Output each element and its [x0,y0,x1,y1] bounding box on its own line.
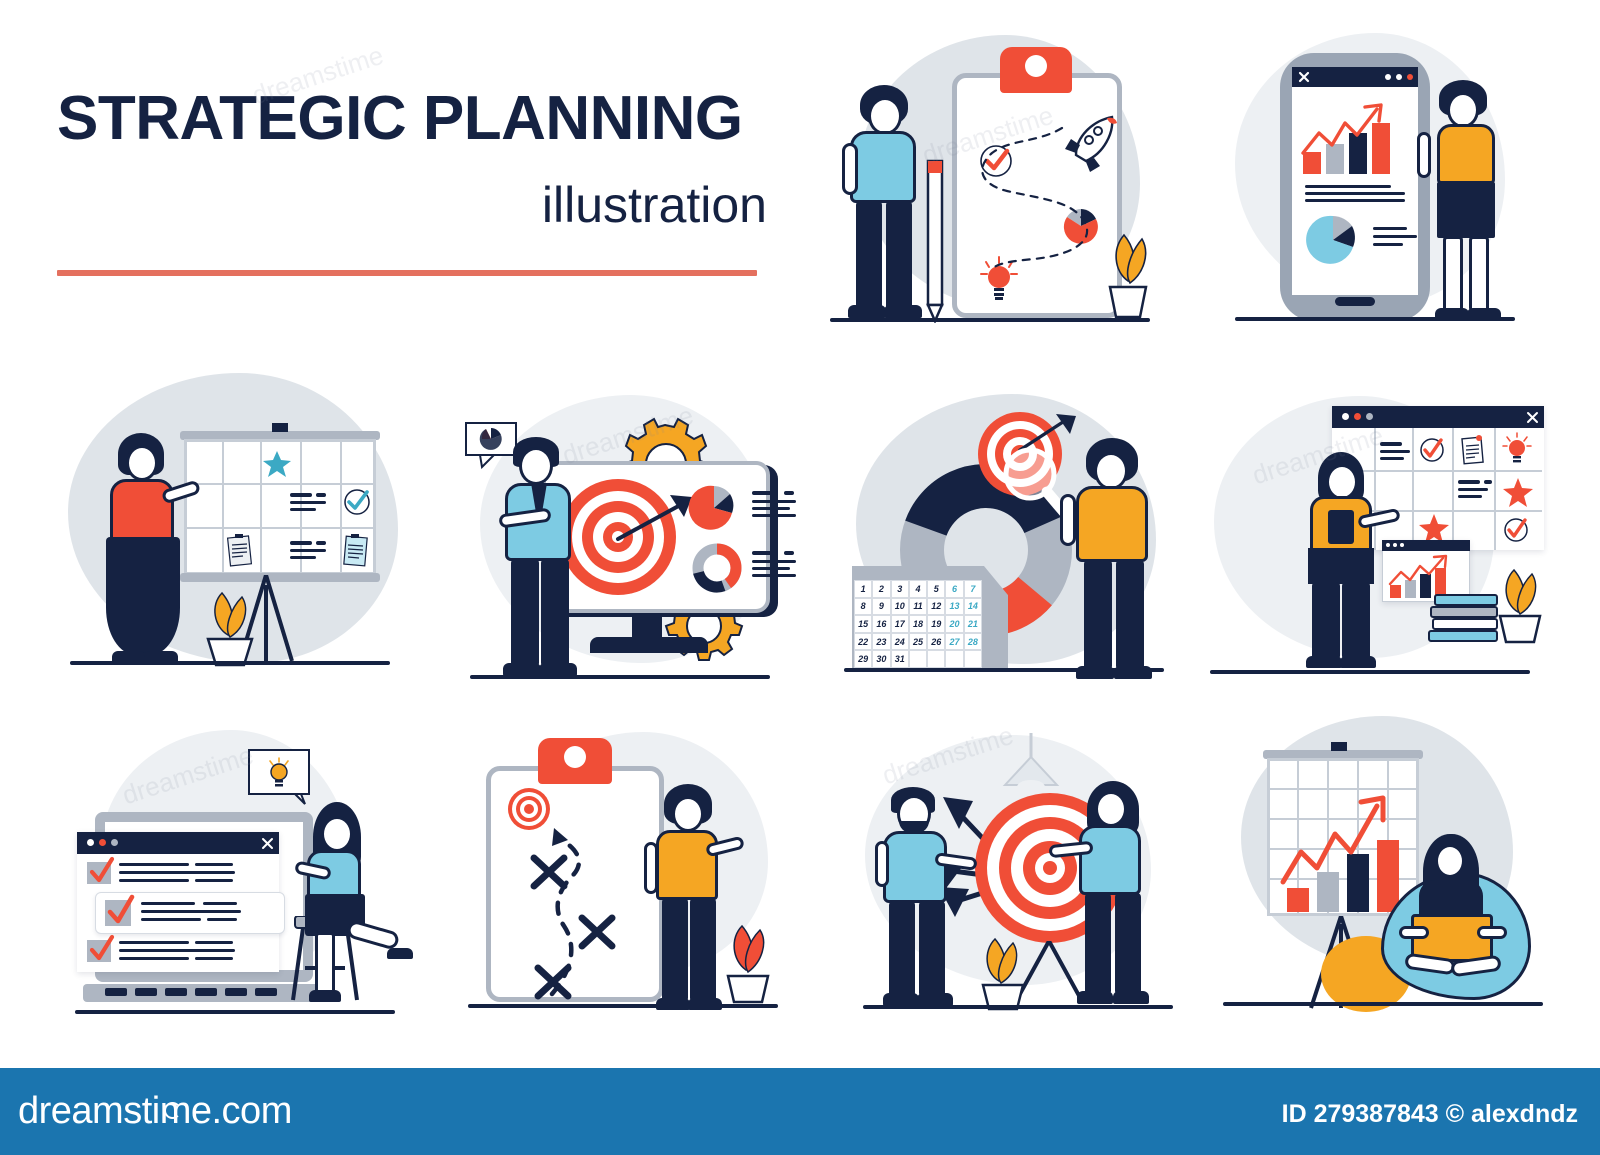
checkmark-icon [1418,436,1446,464]
document-icon [1460,434,1486,466]
calendar-day: 5 [927,580,945,598]
window-dot [1385,74,1391,80]
checkmark-icon [342,487,372,517]
sticky-note-icon [342,533,370,567]
checkmark-icon [104,894,136,928]
donut-chart-icon [690,541,744,595]
footer-bar: dreamstime.com ID 279387843 © alexdndz [0,1068,1600,1155]
scene-clipboard-roadmap [830,25,1160,345]
growth-arrow [1299,101,1399,159]
pencil-icon [922,153,948,323]
calendar-day: 26 [927,633,945,651]
calendar-day: 29 [854,650,872,668]
title-divider [57,270,757,276]
logo-text: dreamstime.com [18,1090,292,1132]
dashed-path [952,73,1122,318]
scene-laptop-checklist [55,722,415,1022]
man-standing [873,787,969,1007]
scene-whiteboard-planning [50,365,420,685]
woman-standing [1067,781,1167,1007]
calendar-day: 2 [872,580,890,598]
growth-arrow [1279,788,1413,898]
checkmark-icon [1502,516,1530,544]
x-mark [576,910,620,954]
window-dot [1366,413,1373,420]
potted-plant [192,587,266,667]
calendar-day: 10 [891,598,909,616]
pie-chart-icon [688,481,744,535]
dreamstime-logo[interactable]: dreamstime.com [18,1090,292,1133]
page-title: STRATEGIC PLANNING [57,88,767,150]
calendar-day [927,650,945,668]
calendar-day: 15 [854,615,872,633]
scene-monitor-target [440,385,790,685]
window-dot [99,839,106,846]
calendar-day: 30 [872,650,890,668]
calendar-day: 4 [909,580,927,598]
calendar-day: 7 [964,580,982,598]
star-icon [1502,476,1534,508]
calendar-day [964,650,982,668]
lightbulb-icon [1502,432,1532,466]
calendar-day [945,650,963,668]
calendar-day: 22 [854,633,872,651]
window-dot [111,839,118,846]
close-icon[interactable] [1297,71,1311,83]
checkmark-icon [87,934,115,964]
potted-plant [1486,564,1552,646]
calendar-day: 31 [891,650,909,668]
calendar-day: 21 [964,615,982,633]
scene-browser-schedule [1190,382,1550,682]
window-dot [1396,74,1402,80]
woman-presenting [100,433,200,663]
woman-holding-phone [1423,80,1513,320]
calendar-day: 16 [872,615,890,633]
image-id-text: ID 279387843 © alexdndz [1282,1100,1578,1129]
man-thinking [495,437,590,677]
woman-standing [1068,438,1164,680]
calendar-day: 25 [909,633,927,651]
person-with-pencil [840,85,930,320]
spiral-icon [164,1102,181,1119]
calendar-grid: 1234567891011121314151617181920212223242… [854,580,982,668]
checkmark-icon [87,856,115,886]
calendar-day: 8 [854,598,872,616]
calendar-day: 13 [945,598,963,616]
calendar-day: 1 [854,580,872,598]
calendar-day: 28 [964,633,982,651]
speech-bubble [247,748,317,806]
pie-chart-icon [1305,211,1367,269]
close-icon[interactable] [261,837,274,850]
window-dot [1407,74,1413,80]
potted-plant [967,933,1037,1011]
scene-calendar-donut: 1234567891011121314151617181920212223242… [830,390,1180,685]
page-subtitle: illustration [57,180,767,230]
star-icon [262,449,292,479]
title-block: STRATEGIC PLANNING illustration [57,88,767,276]
calendar-day: 23 [872,633,890,651]
close-icon[interactable] [1526,411,1539,424]
x-mark [532,960,576,1004]
calendar-day: 20 [945,615,963,633]
window-dot [1342,413,1349,420]
calendar-day: 11 [909,598,927,616]
woman-with-clipboard [1300,452,1398,674]
calendar-day: 18 [909,615,927,633]
calendar-day: 19 [927,615,945,633]
illustration-set-canvas: STRATEGIC PLANNING illustration [0,0,1600,1155]
calendar-day: 3 [891,580,909,598]
scene-presentation-growth [1205,702,1550,1012]
calendar-day: 14 [964,598,982,616]
scene-team-target [845,715,1190,1015]
sticky-note-icon [226,533,254,567]
scene-phone-analytics [1195,25,1525,345]
calendar-day: 12 [927,598,945,616]
calendar-day: 27 [945,633,963,651]
calendar-day: 9 [872,598,890,616]
calendar-day: 17 [891,615,909,633]
calendar-day: 24 [891,633,909,651]
woman-sitting [1401,834,1511,984]
arrow-icon [608,491,700,547]
window-dot [87,839,94,846]
x-mark [528,850,572,894]
potted-plant [1098,225,1154,320]
calendar-day [909,650,927,668]
scene-strategy-board [448,722,788,1022]
woman-on-stool [291,802,401,1002]
window-dot [1354,413,1361,420]
clipboard [1328,510,1354,544]
calendar-day: 6 [945,580,963,598]
potted-plant [716,918,778,1006]
